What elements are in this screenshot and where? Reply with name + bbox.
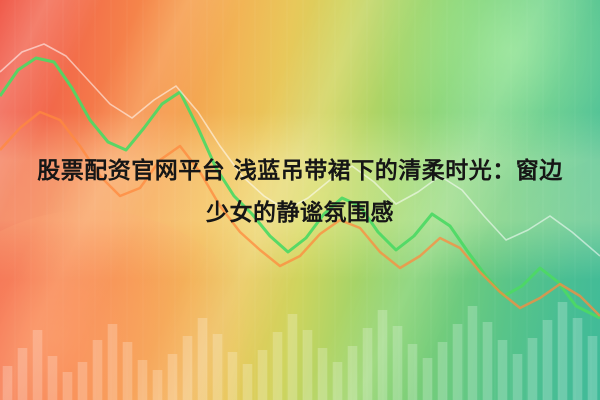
caption-text: 股票配资官网平台 浅蓝吊带裙下的清柔时光：窗边少女的静谧氛围感: [0, 150, 600, 234]
volume-bars: [3, 302, 598, 400]
image-canvas: 股票配资官网平台 浅蓝吊带裙下的清柔时光：窗边少女的静谧氛围感: [0, 0, 600, 400]
